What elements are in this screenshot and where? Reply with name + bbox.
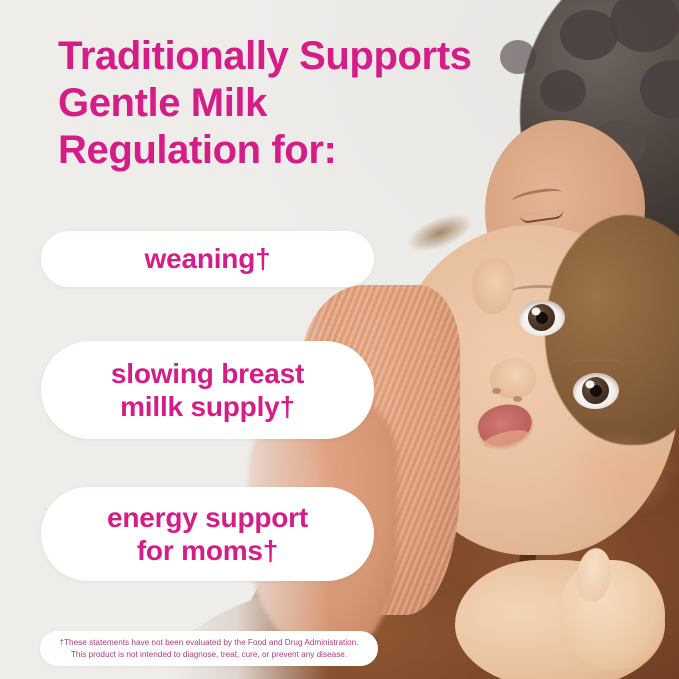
baby-ear xyxy=(472,258,514,314)
benefit-pill-slowing-breast-milk-supply: slowing breast millk supply† xyxy=(41,341,374,439)
baby-nostril xyxy=(513,396,522,402)
fda-disclaimer-line-2: This product is not intended to diagnose… xyxy=(71,649,347,661)
benefit-pill-energy-support-for-moms: energy support for moms† xyxy=(41,487,374,581)
baby-eyebrow xyxy=(512,285,568,297)
baby-eyebrow xyxy=(568,358,624,370)
baby-cheek xyxy=(560,430,679,520)
baby-nostril xyxy=(492,388,501,394)
product-infographic-card: Traditionally Supports Gentle Milk Regul… xyxy=(0,0,679,679)
hair-curl xyxy=(540,70,586,112)
benefit-pill-weaning: weaning† xyxy=(41,231,374,287)
page-title: Traditionally Supports Gentle Milk Regul… xyxy=(58,33,528,173)
fda-disclaimer: †These statements have not been evaluate… xyxy=(40,631,378,666)
fda-disclaimer-line-1: †These statements have not been evaluate… xyxy=(59,637,358,649)
